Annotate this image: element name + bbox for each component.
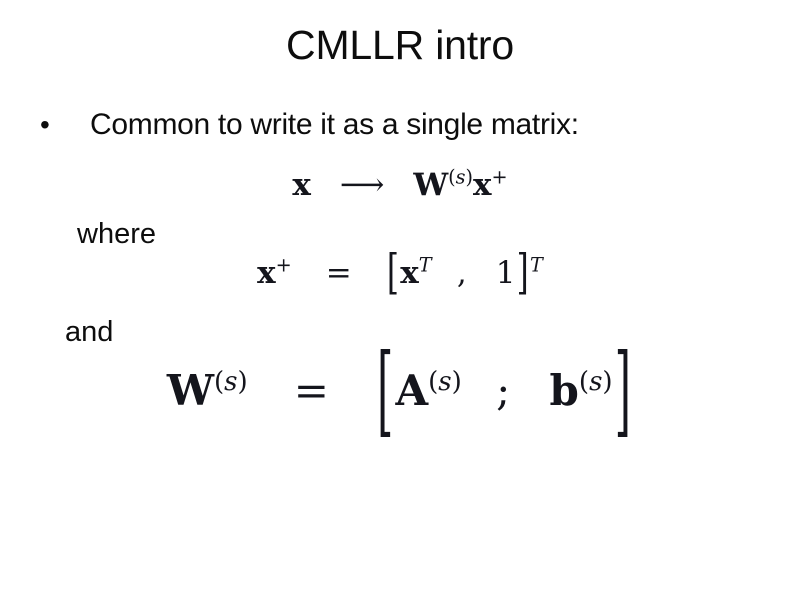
eq3-bracket-open: [ [377, 342, 393, 441]
eq1-arrow-icon: ⟶ [340, 167, 384, 203]
eq2-lhs-vector: x [257, 255, 275, 291]
eq3-equals-sign: = [294, 366, 329, 415]
page-title: CMLLR intro [0, 22, 800, 69]
eq1-matrix-superscript: (s) [448, 166, 473, 189]
slide-canvas: CMLLR intro • Common to write it as a si… [0, 0, 800, 599]
equation-transform: x ⟶ W(s)x+ [0, 170, 800, 201]
eq2-lhs-superscript: + [276, 254, 292, 277]
eq2-bracket-open: [ [387, 249, 399, 297]
bullet-marker-icon: • [40, 111, 90, 139]
equation-matrix-composition: W(s) = [A(s) ; b(s)] [0, 370, 800, 412]
eq2-comma-separator: , [457, 255, 467, 291]
eq3-vector-b: b [550, 366, 579, 415]
eq2-outer-superscript: T [530, 254, 543, 277]
eq3-lhs-matrix: W [167, 366, 214, 415]
eq1-matrix-w: W [413, 167, 448, 203]
connector-where-label: where [77, 218, 156, 251]
eq2-inner-vector: x [400, 255, 418, 291]
eq1-vector-x: x [473, 167, 491, 203]
eq3-vector-b-superscript: (s) [579, 367, 613, 397]
equation-extended-vector: x+ = [xT , 1]T [0, 258, 800, 289]
eq2-inner-superscript: T [419, 254, 432, 277]
eq2-inner-one: 1 [496, 255, 516, 291]
bullet-item-label: Common to write it as a single matrix: [90, 108, 760, 142]
eq3-matrix-a: A [396, 366, 429, 415]
eq3-matrix-a-superscript: (s) [428, 367, 462, 397]
connector-and-label: and [65, 316, 113, 349]
eq2-bracket-close: ] [517, 249, 529, 297]
eq1-lhs-vector: x [292, 167, 310, 203]
eq3-lhs-superscript: (s) [214, 367, 248, 397]
eq3-semicolon-separator: ; [496, 366, 510, 415]
eq1-vector-superscript: + [492, 166, 508, 189]
bullet-list-item: • Common to write it as a single matrix: [40, 108, 760, 142]
eq3-bracket-close: ] [615, 342, 631, 441]
eq2-equals-sign: = [326, 255, 352, 291]
